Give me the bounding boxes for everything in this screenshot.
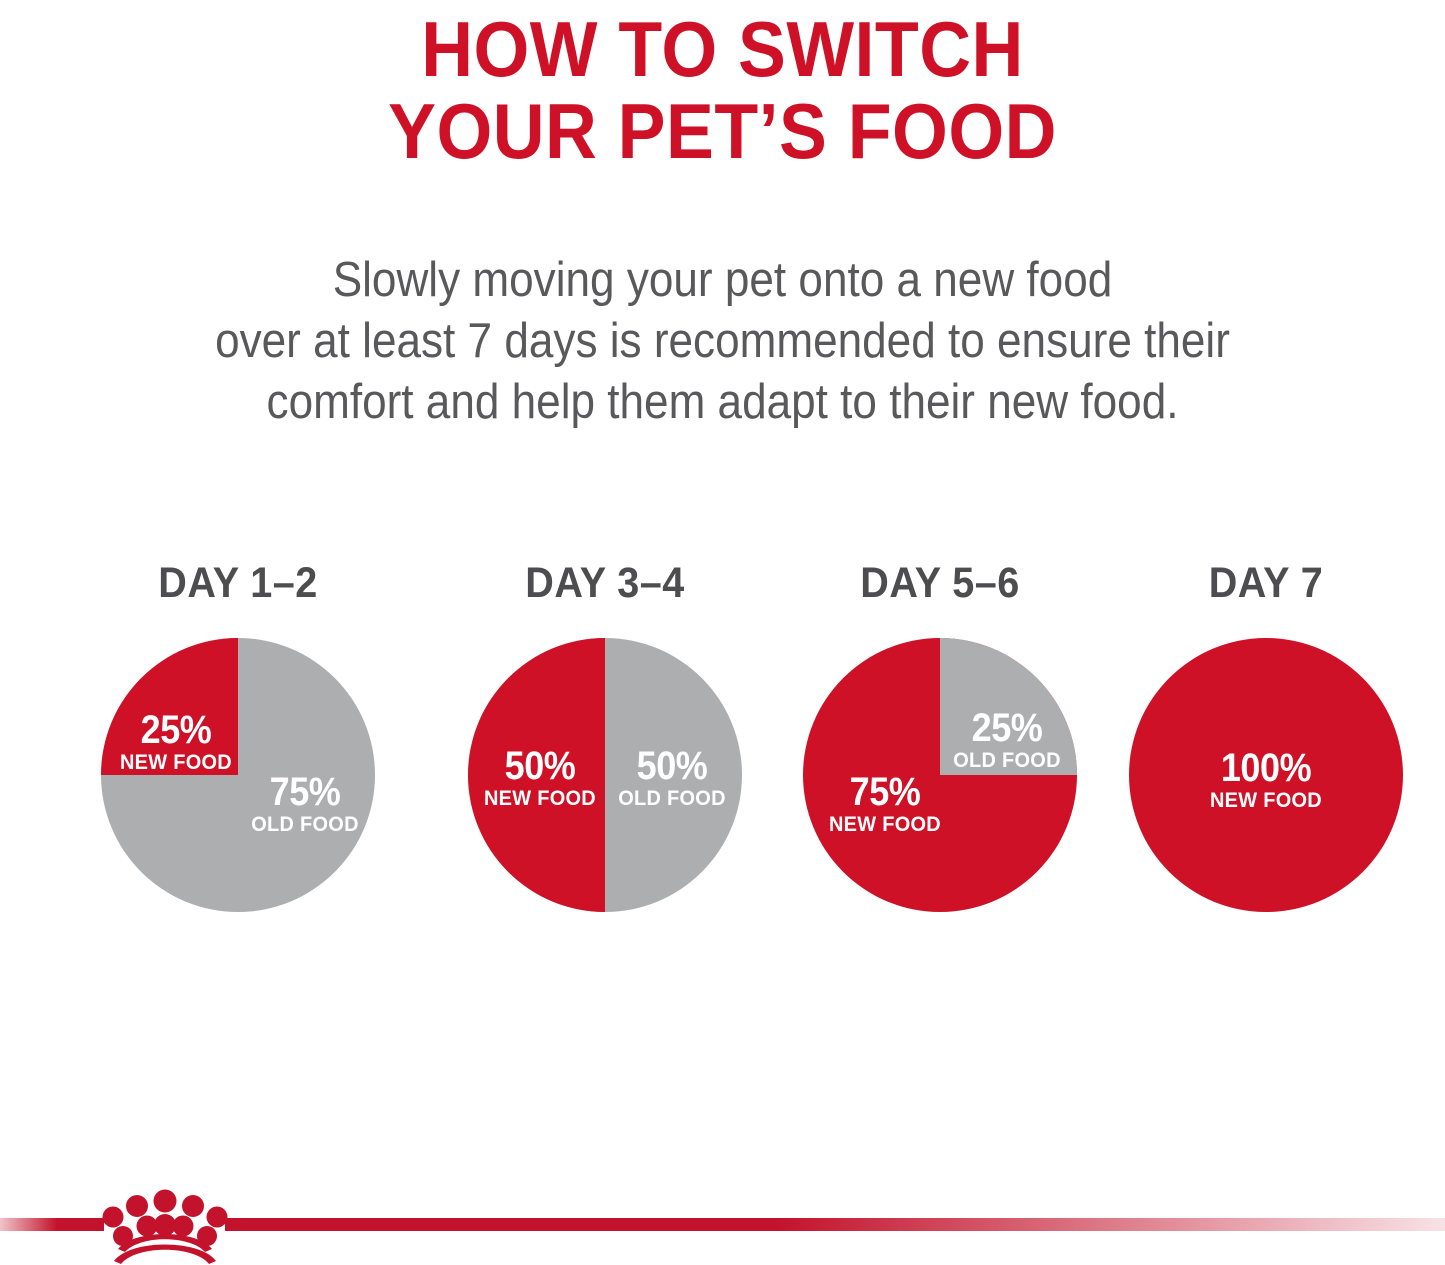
footer-rule-right — [225, 1218, 1445, 1231]
page-title: HOW TO SWITCH YOUR PET’S FOOD — [58, 8, 1387, 172]
step-day-3-4: DAY 3–4 50% NEW FOOD 50% OLD FOOD — [455, 560, 755, 950]
pie-svg-day-5-6 — [803, 638, 1077, 912]
brand-logo — [96, 1179, 236, 1265]
pie-slice-new-food — [468, 638, 605, 912]
pie-chart-day-7: 100% NEW FOOD — [1129, 638, 1403, 912]
pie-chart-day-1-2: 25% NEW FOOD 75% OLD FOOD — [101, 638, 375, 912]
footer — [0, 1179, 1445, 1265]
footer-rule-left — [0, 1218, 104, 1231]
pie-chart-day-3-4: 50% NEW FOOD 50% OLD FOOD — [468, 638, 742, 912]
title-line-2: YOUR PET’S FOOD — [58, 90, 1387, 172]
title-line-1: HOW TO SWITCH — [58, 8, 1387, 90]
pie-slice-old-food — [940, 638, 1077, 775]
step-day-1-2: DAY 1–2 25% NEW FOOD 75% OLD FOOD — [88, 560, 388, 950]
pie-chart-day-5-6: 25% OLD FOOD 75% NEW FOOD — [803, 638, 1077, 912]
subtitle-line-2: over at least 7 days is recommended to e… — [72, 311, 1373, 372]
pie-slice-new-food — [1129, 638, 1403, 912]
day-label-1: DAY 1–2 — [100, 560, 376, 606]
transition-schedule-charts: DAY 1–2 25% NEW FOOD 75% OLD FOOD DAY 3–… — [0, 560, 1445, 950]
crown-icon — [96, 1179, 236, 1265]
infographic-page: HOW TO SWITCH YOUR PET’S FOOD Slowly mov… — [0, 0, 1445, 1265]
subtitle-line-1: Slowly moving your pet onto a new food — [72, 250, 1373, 311]
pie-svg-day-7 — [1129, 638, 1403, 912]
day-label-2: DAY 3–4 — [467, 560, 743, 606]
subtitle-text: Slowly moving your pet onto a new food o… — [72, 250, 1373, 433]
step-day-5-6: DAY 5–6 25% OLD FOOD 75% NEW FOOD — [790, 560, 1090, 950]
day-label-4: DAY 7 — [1128, 560, 1404, 606]
pie-svg-day-1-2 — [101, 638, 375, 912]
pie-slice-new-food — [101, 638, 238, 775]
day-label-3: DAY 5–6 — [802, 560, 1078, 606]
step-day-7: DAY 7 100% NEW FOOD — [1116, 560, 1416, 950]
subtitle-line-3: comfort and help them adapt to their new… — [72, 372, 1373, 433]
pie-svg-day-3-4 — [468, 638, 742, 912]
